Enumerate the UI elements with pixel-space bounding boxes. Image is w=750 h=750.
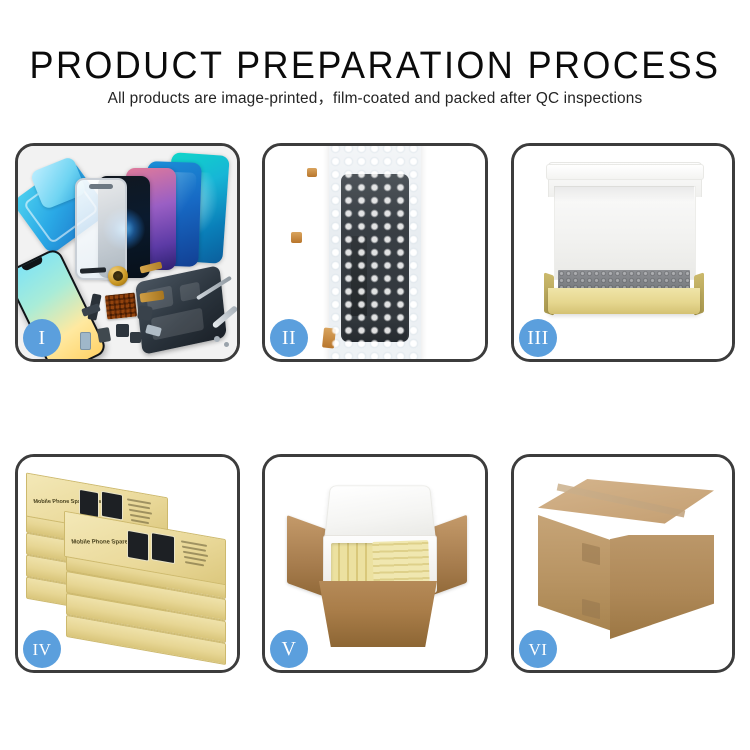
sealed-carton-graphic [538, 479, 714, 643]
speaker-module-graphic [108, 266, 128, 286]
box-stack-graphic: Mobile Phone Spare Parts [26, 471, 230, 661]
flex-part-graphic [80, 332, 91, 350]
process-step-grid: I II [0, 0, 750, 750]
tape-graphic [307, 168, 317, 177]
lcd-screen-graphic [341, 174, 409, 342]
flex-part-graphic [97, 327, 111, 343]
open-carton-graphic [281, 473, 471, 655]
step-badge-1: I [23, 319, 61, 357]
step-badge-4: IV [23, 630, 61, 668]
carton-body [319, 581, 437, 647]
screw-graphic [214, 336, 220, 342]
tape-graphic [322, 327, 336, 348]
screw-graphic [224, 342, 229, 347]
chip-array-graphic [105, 292, 137, 319]
flex-part-graphic [137, 305, 153, 321]
step-badge-2: II [270, 319, 308, 357]
process-step-1: I [15, 143, 240, 362]
process-step-6: VI [511, 454, 735, 673]
flex-part-graphic [116, 324, 129, 337]
process-step-5: V [262, 454, 488, 673]
screen-protector-graphic [75, 178, 127, 280]
process-step-2: II [262, 143, 488, 362]
process-step-3: III [511, 143, 735, 362]
product-preparation-infographic: PRODUCT PREPARATION PROCESS All products… [0, 0, 750, 750]
tape-graphic [291, 232, 302, 243]
step-badge-6: VI [519, 630, 557, 668]
step-badge-5: V [270, 630, 308, 668]
packed-boxes-graphic [372, 540, 430, 586]
process-step-4: Mobile Phone Spare Parts [15, 454, 240, 673]
step-badge-3: III [519, 319, 557, 357]
inner-box-graphic [540, 162, 708, 322]
flex-part-graphic [130, 332, 141, 343]
